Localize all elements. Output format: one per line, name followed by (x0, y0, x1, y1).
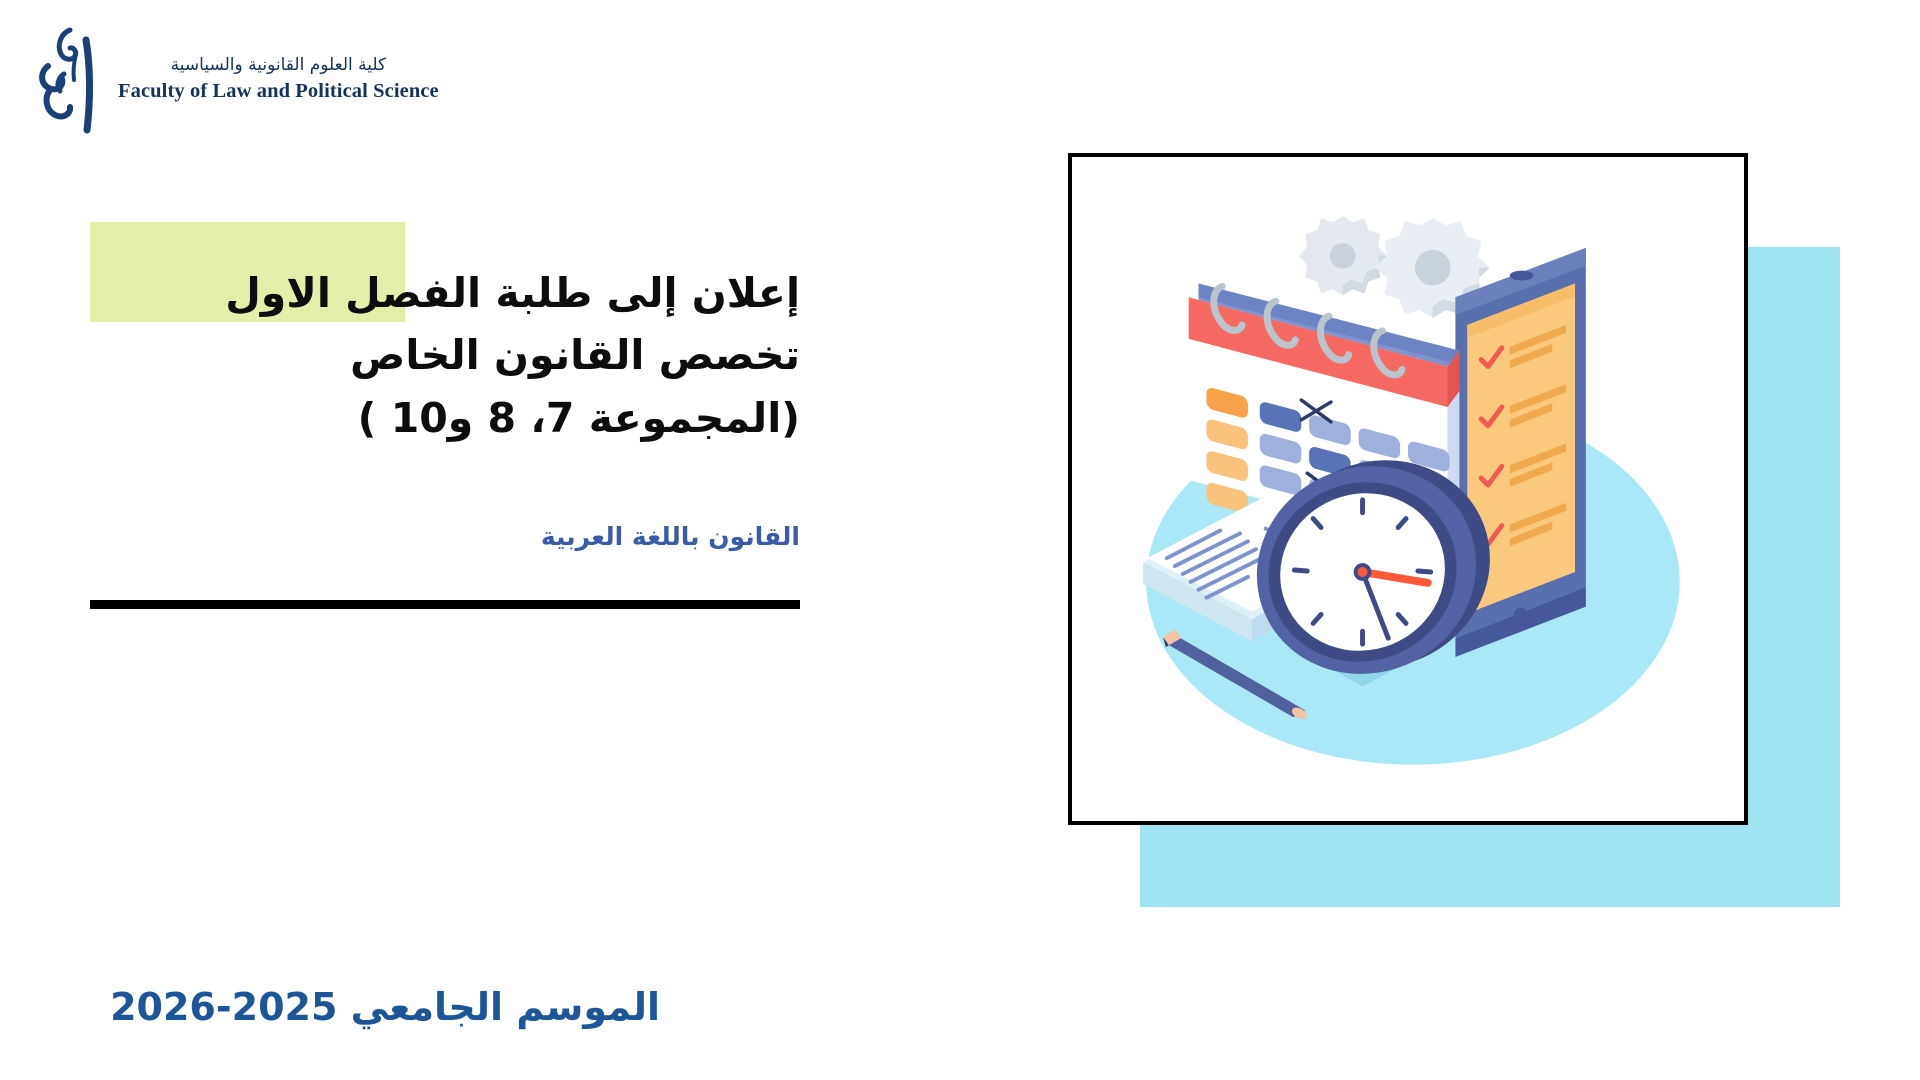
announcement-subtitle: القانون باللغة العربية (90, 519, 800, 554)
headline-line-2: تخصص القانون الخاص (90, 324, 800, 386)
faculty-name-arabic: كلية العلوم القانونية والسياسية (118, 55, 439, 76)
page-title: إعلان إلى طلبة الفصل الاول تخصص القانون … (90, 262, 800, 449)
announcement-text-column: إعلان إلى طلبة الفصل الاول تخصص القانون … (90, 262, 800, 609)
headline-line-1: إعلان إلى طلبة الفصل الاول (90, 262, 800, 324)
faculty-logo-text: كلية العلوم القانونية والسياسية Faculty … (118, 55, 439, 104)
faculty-logo: كلية العلوم القانونية والسياسية Faculty … (30, 22, 450, 137)
headline-line-3: (المجموعة 7، 8 و10 ) (90, 387, 800, 449)
academic-year-label: الموسم الجامعي 2025-2026 (0, 985, 660, 1029)
faculty-name-english: Faculty of Law and Political Science (118, 79, 439, 104)
slide-canvas: كلية العلوم القانونية والسياسية Faculty … (0, 0, 1920, 1080)
divider-rule (90, 600, 800, 609)
faculty-seal-icon (30, 24, 108, 136)
illustration-frame (1068, 153, 1748, 825)
